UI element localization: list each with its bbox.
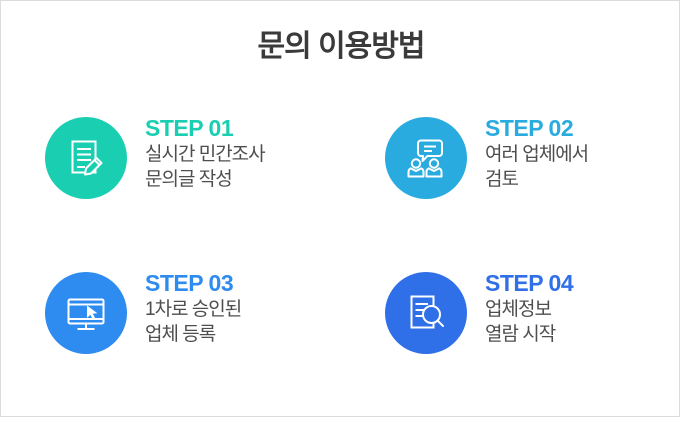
step-desc-line-1: 업체정보 [485, 298, 573, 322]
step-label-02: STEP 02 [485, 115, 588, 141]
step-text-02: STEP 02 여러 업체에서 검토 [485, 113, 588, 192]
step-text-04: STEP 04 업체정보 열람 시작 [485, 268, 573, 347]
step-desc-line-1: 여러 업체에서 [485, 143, 588, 167]
step-item-03[interactable]: STEP 03 1차로 승인된 업체 등록 [1, 268, 341, 423]
step-label-04: STEP 04 [485, 270, 573, 296]
step-desc-line-2: 검토 [485, 168, 588, 192]
step-item-02[interactable]: STEP 02 여러 업체에서 검토 [341, 113, 680, 268]
step-desc-03: 1차로 승인된 업체 등록 [145, 298, 241, 347]
step-guide-page: 문의 이용방법 STEP 01 [0, 0, 680, 417]
step-text-01: STEP 01 실시간 민간조사 문의글 작성 [145, 113, 265, 192]
step-desc-line-2: 열람 시작 [485, 323, 573, 347]
step-desc-04: 업체정보 열람 시작 [485, 298, 573, 347]
step-icon-badge-03 [45, 272, 127, 354]
step-desc-line-1: 1차로 승인된 [145, 298, 241, 322]
document-search-icon [403, 290, 449, 336]
step-icon-badge-02 [385, 117, 467, 199]
step-item-01[interactable]: STEP 01 실시간 민간조사 문의글 작성 [1, 113, 341, 268]
steps-grid: STEP 01 실시간 민간조사 문의글 작성 [1, 113, 680, 413]
document-pencil-icon [63, 135, 109, 181]
step-label-01: STEP 01 [145, 115, 265, 141]
step-icon-badge-01 [45, 117, 127, 199]
people-chat-icon [403, 135, 449, 181]
step-desc-01: 실시간 민간조사 문의글 작성 [145, 143, 265, 192]
step-item-04[interactable]: STEP 04 업체정보 열람 시작 [341, 268, 680, 423]
step-label-03: STEP 03 [145, 270, 241, 296]
step-desc-02: 여러 업체에서 검토 [485, 143, 588, 192]
page-title: 문의 이용방법 [1, 29, 680, 65]
step-desc-line-2: 문의글 작성 [145, 168, 265, 192]
monitor-cursor-icon [63, 290, 109, 336]
step-icon-badge-04 [385, 272, 467, 354]
step-text-03: STEP 03 1차로 승인된 업체 등록 [145, 268, 241, 347]
step-desc-line-1: 실시간 민간조사 [145, 143, 265, 167]
step-desc-line-2: 업체 등록 [145, 323, 241, 347]
